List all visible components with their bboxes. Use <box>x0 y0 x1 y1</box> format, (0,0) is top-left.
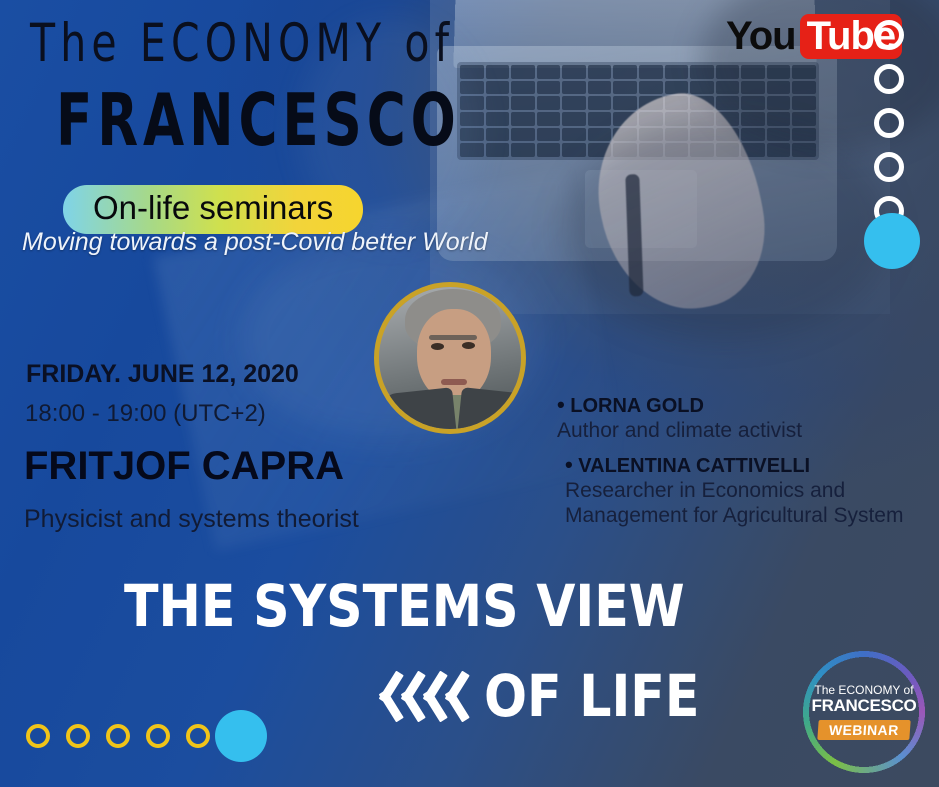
speaker-portrait-avatar <box>374 282 526 434</box>
main-speaker-role: Physicist and systems theorist <box>24 505 359 534</box>
gold-ring-icon <box>106 724 130 748</box>
white-ring-icon <box>874 152 904 182</box>
guest-role: Author and climate activist <box>557 418 937 444</box>
guest-name-row: • LORNA GOLD <box>557 392 937 418</box>
badge-line1: The ECONOMY of <box>814 684 913 696</box>
portrait-illustration <box>379 287 521 429</box>
guest-speaker-item: • VALENTINA CATTIVELLI Researcher in Eco… <box>545 452 937 529</box>
badge-line2: FRANCESCO <box>812 696 917 715</box>
guest-role: Researcher in Economics and Management f… <box>565 478 937 529</box>
talk-title-line2-row: OF LIFE <box>372 662 706 730</box>
talk-title-line1: THE SYSTEMS VIEW <box>124 572 685 640</box>
white-ring-icon <box>874 64 904 94</box>
gold-ring-icon <box>186 724 210 748</box>
right-ring-column <box>874 20 904 240</box>
white-ring-icon <box>874 20 904 50</box>
cyan-dot-right <box>864 213 920 269</box>
guest-name-row: • VALENTINA CATTIVELLI <box>565 452 937 478</box>
tagline: Moving towards a post-Covid better World <box>22 228 487 257</box>
cyan-dot-bottom <box>215 710 267 762</box>
bullet-icon: • <box>557 392 565 417</box>
badge-content: The ECONOMY of FRANCESCO WEBINAR <box>810 658 918 766</box>
economy-of-francesco-webinar-badge: The ECONOMY of FRANCESCO WEBINAR <box>800 648 928 776</box>
shadow-blob <box>560 120 890 340</box>
event-date: FRIDAY. JUNE 12, 2020 <box>26 360 299 389</box>
brand-title-line2: FRANCESCO <box>56 84 461 156</box>
event-time: 18:00 - 19:00 (UTC+2) <box>25 400 266 428</box>
chevron-left-icon <box>438 668 464 724</box>
chevron-left-group-icon <box>372 668 460 724</box>
guest-speaker-item: • LORNA GOLD Author and climate activist <box>545 392 937 444</box>
gold-ring-icon <box>146 724 170 748</box>
badge-webinar-label: WEBINAR <box>817 720 910 740</box>
bottom-ring-row <box>26 724 226 748</box>
talk-title-line2: OF LIFE <box>484 662 699 730</box>
bullet-icon: • <box>565 452 573 477</box>
gold-ring-icon <box>26 724 50 748</box>
gold-ring-icon <box>66 724 90 748</box>
main-speaker-name: FRITJOF CAPRA <box>24 444 344 489</box>
webinar-poster: The ECONOMY of FRANCESCO On-life seminar… <box>0 0 939 787</box>
white-ring-icon <box>874 108 904 138</box>
brand-title-line1: The ECONOMY of <box>30 17 454 70</box>
youtube-you-text: You <box>726 14 796 59</box>
onlife-seminars-pill: On-life seminars <box>63 185 363 234</box>
guest-name: LORNA GOLD <box>570 395 704 417</box>
guest-name: VALENTINA CATTIVELLI <box>578 455 810 477</box>
guest-speaker-list: • LORNA GOLD Author and climate activist… <box>545 392 937 529</box>
